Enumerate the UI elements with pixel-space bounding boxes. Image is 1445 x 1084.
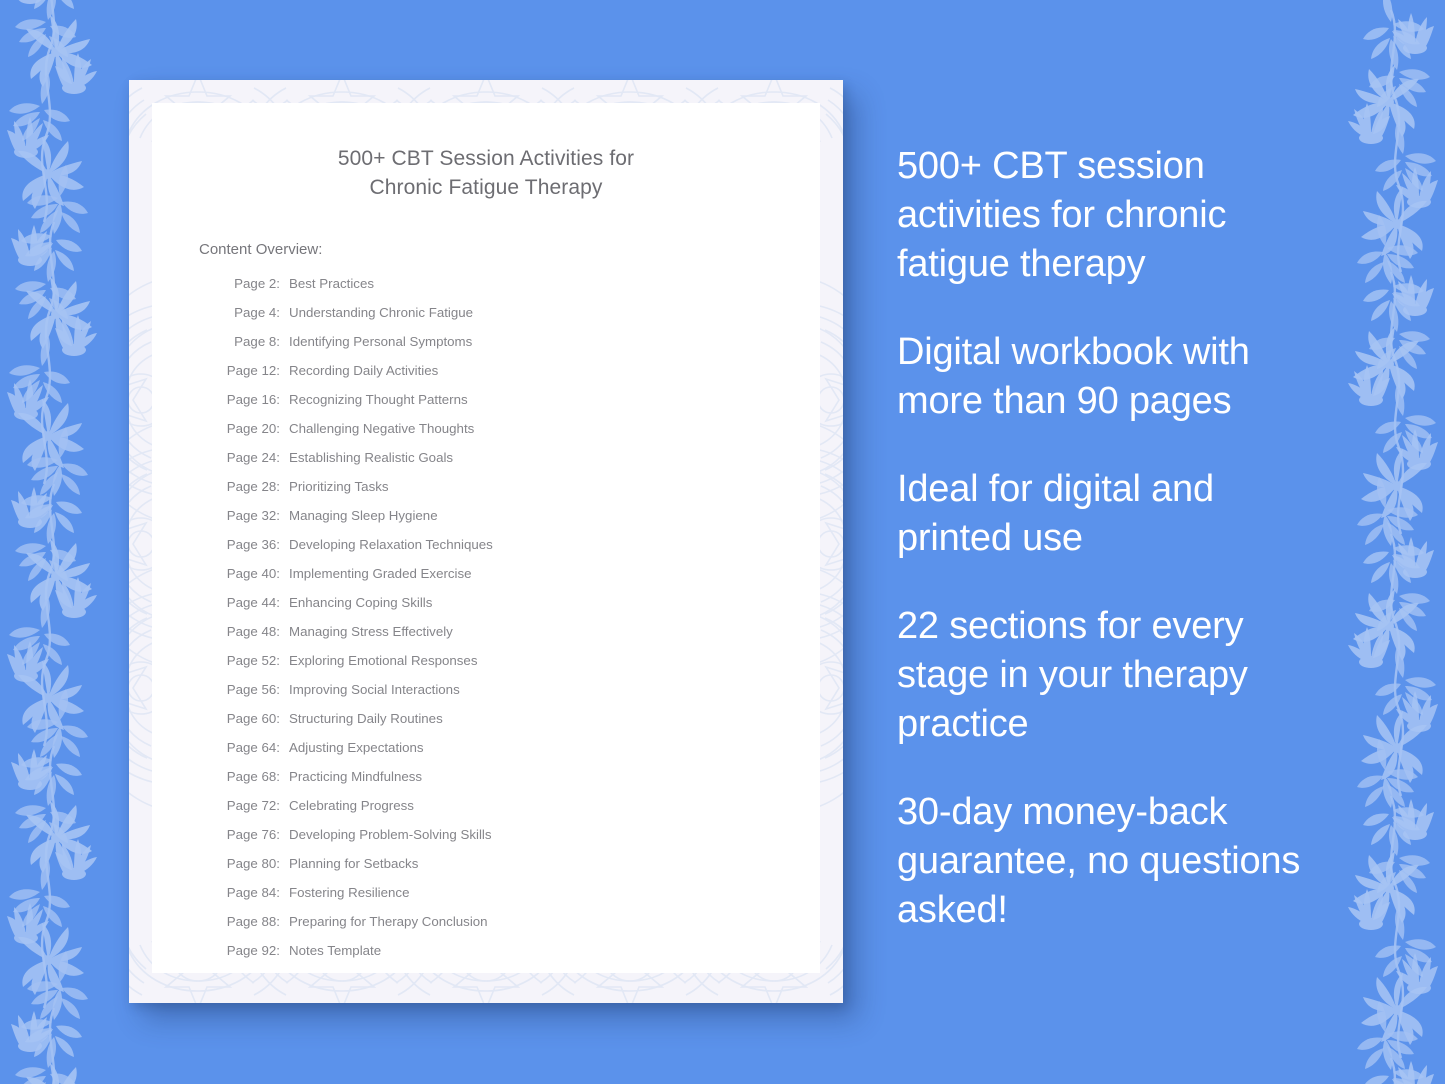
toc-row: Page 12:Recording Daily Activities bbox=[222, 363, 820, 392]
toc-section-title: Implementing Graded Exercise bbox=[280, 566, 472, 581]
toc-section-title: Establishing Realistic Goals bbox=[280, 450, 453, 465]
toc-section-title: Adjusting Expectations bbox=[280, 740, 424, 755]
toc-page-number: Page 36: bbox=[222, 537, 280, 552]
toc-row: Page 80:Planning for Setbacks bbox=[222, 856, 820, 885]
workbook-cover-card: 500+ CBT Session Activities for Chronic … bbox=[129, 80, 843, 1003]
toc-page-number: Page 32: bbox=[222, 508, 280, 523]
toc-row: Page 44:Enhancing Coping Skills bbox=[222, 595, 820, 624]
marketing-bullet: 22 sections for every stage in your ther… bbox=[897, 602, 1327, 749]
toc-page-number: Page 28: bbox=[222, 479, 280, 494]
toc-row: Page 20:Challenging Negative Thoughts bbox=[222, 421, 820, 450]
toc-row: Page 36:Developing Relaxation Techniques bbox=[222, 537, 820, 566]
toc-page-number: Page 2: bbox=[222, 276, 280, 291]
toc-section-title: Improving Social Interactions bbox=[280, 682, 460, 697]
toc-row: Page 32:Managing Sleep Hygiene bbox=[222, 508, 820, 537]
toc-section-title: Developing Problem-Solving Skills bbox=[280, 827, 492, 842]
toc-page-number: Page 16: bbox=[222, 392, 280, 407]
toc-row: Page 24:Establishing Realistic Goals bbox=[222, 450, 820, 479]
toc-section-title: Practicing Mindfulness bbox=[280, 769, 422, 784]
toc-section-title: Exploring Emotional Responses bbox=[280, 653, 477, 668]
table-of-contents: Page 2:Best PracticesPage 4:Understandin… bbox=[152, 260, 820, 972]
toc-section-title: Managing Stress Effectively bbox=[280, 624, 453, 639]
toc-row: Page 72:Celebrating Progress bbox=[222, 798, 820, 827]
toc-page-number: Page 24: bbox=[222, 450, 280, 465]
toc-row: Page 64:Adjusting Expectations bbox=[222, 740, 820, 769]
toc-section-title: Fostering Resilience bbox=[280, 885, 409, 900]
marketing-bullet: Digital workbook with more than 90 pages bbox=[897, 328, 1327, 426]
toc-page-number: Page 88: bbox=[222, 914, 280, 929]
toc-section-title: Recognizing Thought Patterns bbox=[280, 392, 468, 407]
toc-row: Page 8:Identifying Personal Symptoms bbox=[222, 334, 820, 363]
toc-row: Page 16:Recognizing Thought Patterns bbox=[222, 392, 820, 421]
toc-section-title: Prioritizing Tasks bbox=[280, 479, 389, 494]
promo-graphic: 500+ CBT Session Activities for Chronic … bbox=[0, 0, 1445, 1084]
page-title-line-2: Chronic Fatigue Therapy bbox=[208, 173, 764, 202]
toc-section-title: Preparing for Therapy Conclusion bbox=[280, 914, 488, 929]
workbook-page: 500+ CBT Session Activities for Chronic … bbox=[152, 103, 820, 973]
toc-page-number: Page 48: bbox=[222, 624, 280, 639]
marketing-bullet: 30-day money-back guarantee, no question… bbox=[897, 788, 1327, 935]
toc-page-number: Page 8: bbox=[222, 334, 280, 349]
marketing-bullet: Ideal for digital and printed use bbox=[897, 465, 1327, 563]
marketing-copy-column: 500+ CBT session activities for chronic … bbox=[897, 142, 1327, 935]
toc-section-title: Understanding Chronic Fatigue bbox=[280, 305, 473, 320]
page-title: 500+ CBT Session Activities for Chronic … bbox=[152, 103, 820, 202]
toc-row: Page 4:Understanding Chronic Fatigue bbox=[222, 305, 820, 334]
toc-page-number: Page 40: bbox=[222, 566, 280, 581]
toc-section-title: Developing Relaxation Techniques bbox=[280, 537, 493, 552]
toc-page-number: Page 92: bbox=[222, 943, 280, 958]
toc-section-title: Challenging Negative Thoughts bbox=[280, 421, 474, 436]
toc-row: Page 48:Managing Stress Effectively bbox=[222, 624, 820, 653]
toc-section-title: Best Practices bbox=[280, 276, 374, 291]
toc-page-number: Page 68: bbox=[222, 769, 280, 784]
toc-row: Page 40:Implementing Graded Exercise bbox=[222, 566, 820, 595]
toc-page-number: Page 4: bbox=[222, 305, 280, 320]
marketing-bullet: 500+ CBT session activities for chronic … bbox=[897, 142, 1327, 289]
toc-row: Page 84:Fostering Resilience bbox=[222, 885, 820, 914]
toc-page-number: Page 84: bbox=[222, 885, 280, 900]
content-overview-label: Content Overview: bbox=[152, 202, 820, 260]
toc-section-title: Celebrating Progress bbox=[280, 798, 414, 813]
toc-row: Page 76:Developing Problem-Solving Skill… bbox=[222, 827, 820, 856]
toc-page-number: Page 76: bbox=[222, 827, 280, 842]
toc-page-number: Page 60: bbox=[222, 711, 280, 726]
toc-section-title: Structuring Daily Routines bbox=[280, 711, 443, 726]
toc-page-number: Page 56: bbox=[222, 682, 280, 697]
toc-page-number: Page 52: bbox=[222, 653, 280, 668]
floral-vine-right-icon bbox=[1319, 0, 1445, 1084]
toc-row: Page 68:Practicing Mindfulness bbox=[222, 769, 820, 798]
toc-section-title: Planning for Setbacks bbox=[280, 856, 418, 871]
toc-row: Page 56:Improving Social Interactions bbox=[222, 682, 820, 711]
page-title-line-1: 500+ CBT Session Activities for bbox=[208, 144, 764, 173]
toc-row: Page 60:Structuring Daily Routines bbox=[222, 711, 820, 740]
toc-page-number: Page 72: bbox=[222, 798, 280, 813]
floral-vine-left-icon bbox=[0, 0, 126, 1084]
toc-section-title: Enhancing Coping Skills bbox=[280, 595, 432, 610]
toc-page-number: Page 44: bbox=[222, 595, 280, 610]
toc-page-number: Page 64: bbox=[222, 740, 280, 755]
toc-row: Page 92:Notes Template bbox=[222, 943, 820, 972]
toc-section-title: Recording Daily Activities bbox=[280, 363, 438, 378]
toc-row: Page 2:Best Practices bbox=[222, 276, 820, 305]
toc-section-title: Managing Sleep Hygiene bbox=[280, 508, 438, 523]
toc-row: Page 88:Preparing for Therapy Conclusion bbox=[222, 914, 820, 943]
toc-section-title: Identifying Personal Symptoms bbox=[280, 334, 472, 349]
toc-row: Page 52:Exploring Emotional Responses bbox=[222, 653, 820, 682]
toc-page-number: Page 12: bbox=[222, 363, 280, 378]
toc-row: Page 28:Prioritizing Tasks bbox=[222, 479, 820, 508]
toc-page-number: Page 80: bbox=[222, 856, 280, 871]
toc-section-title: Notes Template bbox=[280, 943, 381, 958]
toc-page-number: Page 20: bbox=[222, 421, 280, 436]
